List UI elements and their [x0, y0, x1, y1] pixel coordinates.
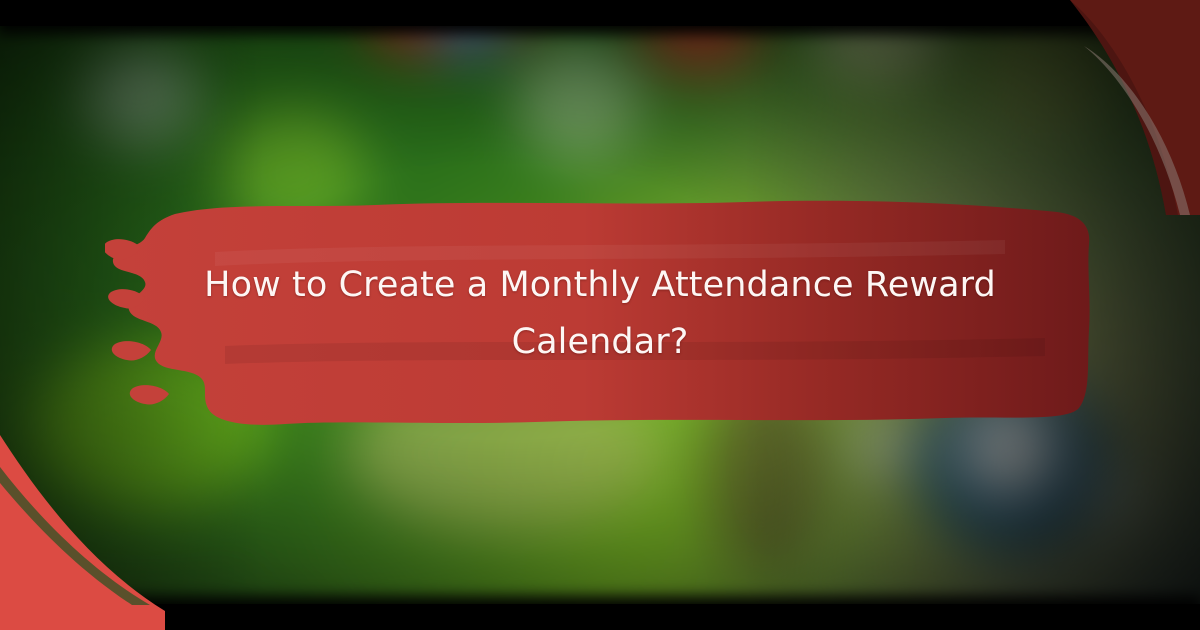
social-share-card: How to Create a Monthly Attendance Rewar…: [0, 0, 1200, 630]
background-blob: [515, 34, 642, 161]
background-blob: [81, 45, 198, 146]
letterbox-bar-top: [0, 0, 1200, 26]
title-banner: How to Create a Monthly Attendance Rewar…: [105, 196, 1095, 431]
title-line-2: Calendar?: [512, 316, 689, 369]
page-title: How to Create a Monthly Attendance Rewar…: [175, 196, 1025, 431]
title-line-1: How to Create a Monthly Attendance Rewar…: [204, 259, 996, 312]
background-blob: [1088, 469, 1146, 527]
letterbox-bar-bottom: [0, 604, 1200, 630]
